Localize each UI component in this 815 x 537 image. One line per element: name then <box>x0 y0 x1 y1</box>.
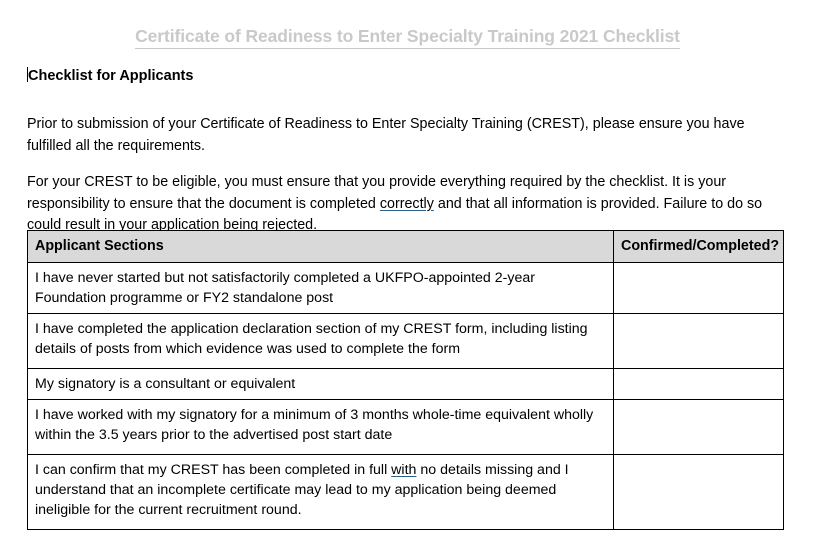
column-header-applicant-sections: Applicant Sections <box>28 231 614 263</box>
checklist-item-text: I have completed the application declara… <box>28 314 614 369</box>
text-run: I have completed the application declara… <box>35 321 588 357</box>
text-run: My signatory is a consultant or equivale… <box>35 376 295 392</box>
confirm-cell[interactable] <box>614 369 784 400</box>
column-header-confirmed-completed: Confirmed/Completed? <box>614 231 784 263</box>
checklist-item-text: I have never started but not satisfactor… <box>28 263 614 314</box>
text-run: I have worked with my signatory for a mi… <box>35 407 593 443</box>
paragraph-eligibility: For your CREST to be eligible, you must … <box>27 172 779 237</box>
section-heading-text: Checklist for Applicants <box>28 68 193 84</box>
confirm-cell[interactable] <box>614 263 784 314</box>
underlined-word: with <box>391 462 416 478</box>
paragraph-intro: Prior to submission of your Certificate … <box>27 114 779 157</box>
table-row: I can confirm that my CREST has been com… <box>28 455 784 530</box>
checklist-item-text: I can confirm that my CREST has been com… <box>28 455 614 530</box>
confirm-cell[interactable] <box>614 400 784 455</box>
checklist-item-text: I have worked with my signatory for a mi… <box>28 400 614 455</box>
text-run: I have never started but not satisfactor… <box>35 270 535 306</box>
table-row: I have completed the application declara… <box>28 314 784 369</box>
section-heading: Checklist for Applicants <box>27 67 193 84</box>
text-run: Prior to submission of your Certificate … <box>27 116 745 154</box>
document-page: Certificate of Readiness to Enter Specia… <box>0 0 815 537</box>
confirm-cell[interactable] <box>614 455 784 530</box>
text-run: I can confirm that my CREST has been com… <box>35 462 391 478</box>
table-header-row: Applicant Sections Confirmed/Completed? <box>28 231 784 263</box>
table-row: I have worked with my signatory for a mi… <box>28 400 784 455</box>
underlined-word: correctly <box>380 196 434 212</box>
page-title: Certificate of Readiness to Enter Specia… <box>0 26 815 49</box>
confirm-cell[interactable] <box>614 314 784 369</box>
page-title-text: Certificate of Readiness to Enter Specia… <box>135 26 680 49</box>
checklist-item-text: My signatory is a consultant or equivale… <box>28 369 614 400</box>
applicant-checklist-table: Applicant Sections Confirmed/Completed? … <box>27 230 784 530</box>
table-row: I have never started but not satisfactor… <box>28 263 784 314</box>
table-body: I have never started but not satisfactor… <box>28 263 784 530</box>
table-row: My signatory is a consultant or equivale… <box>28 369 784 400</box>
